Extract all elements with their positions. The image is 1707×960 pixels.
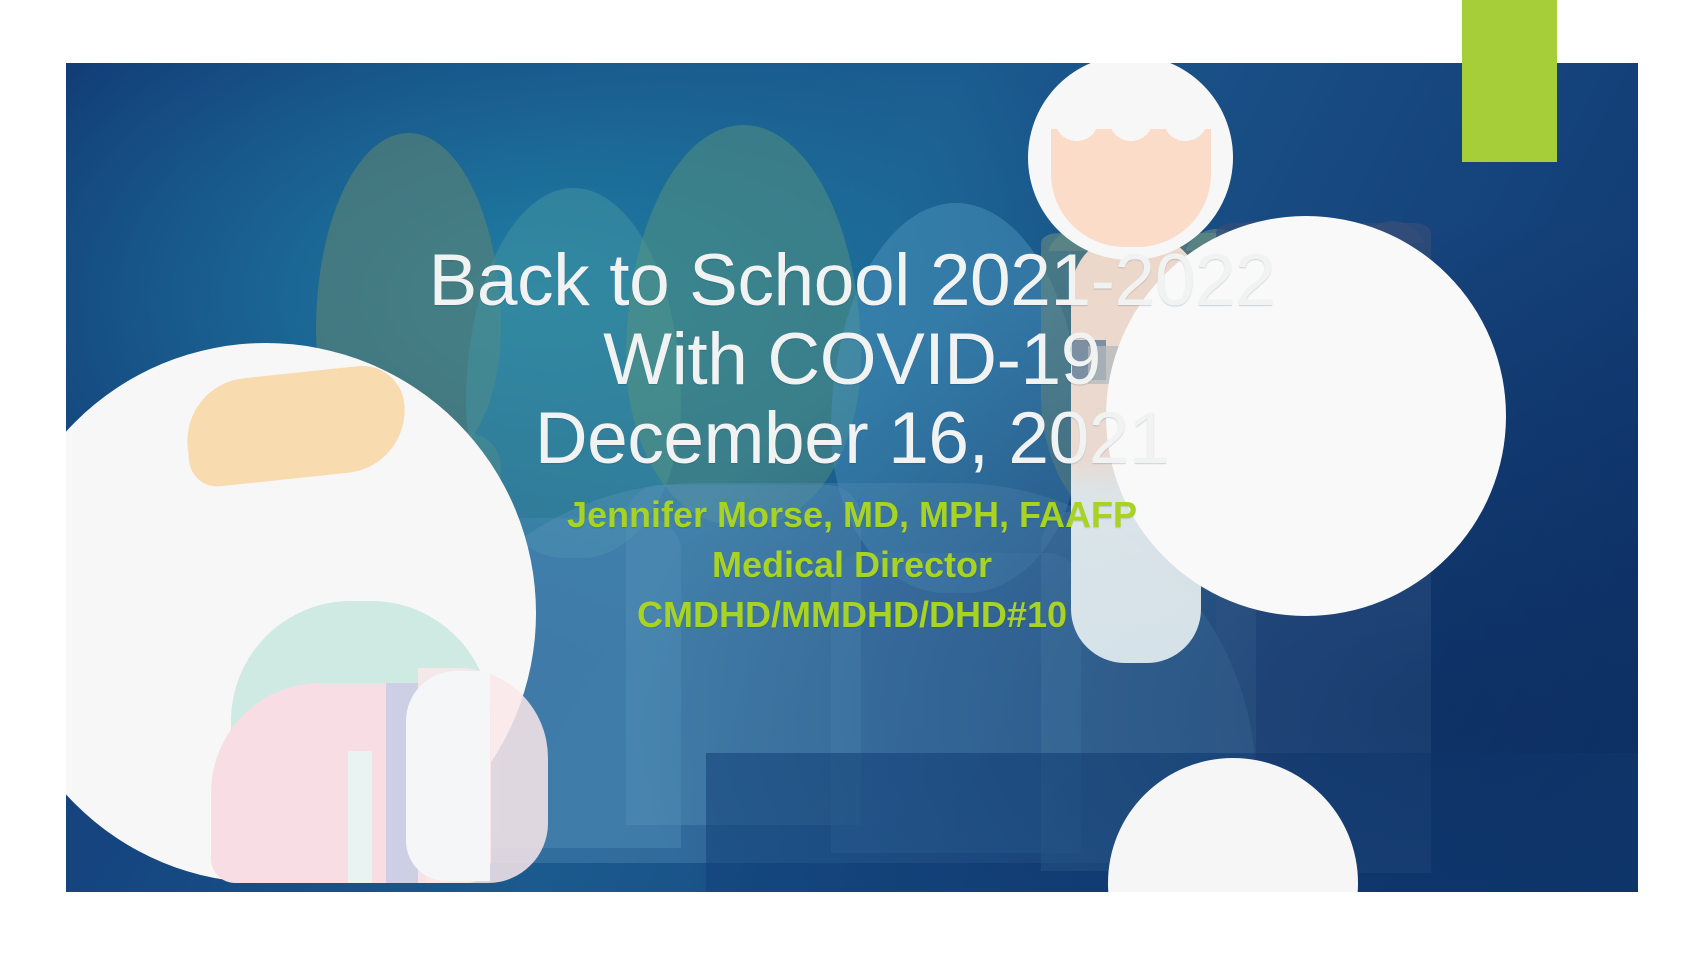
title-line-2: With COVID-19: [272, 320, 1432, 399]
presenter-role: Medical Director: [272, 540, 1432, 590]
presenter-name: Jennifer Morse, MD, MPH, FAAFP: [272, 490, 1432, 540]
slide-text-block: Back to School 2021-2022 With COVID-19 D…: [66, 63, 1638, 892]
title-line-1: Back to School 2021-2022: [272, 241, 1432, 320]
title-slide: Back to School 2021-2022 With COVID-19 D…: [66, 63, 1638, 892]
presentation-slide-canvas: Back to School 2021-2022 With COVID-19 D…: [0, 0, 1707, 960]
title-line-3: December 16, 2021: [272, 399, 1432, 478]
presenter-organization: CMDHD/MMDHD/DHD#10: [272, 590, 1432, 640]
page-title: Back to School 2021-2022 With COVID-19 D…: [272, 241, 1432, 478]
slide-subtitle: Jennifer Morse, MD, MPH, FAAFP Medical D…: [272, 490, 1432, 640]
